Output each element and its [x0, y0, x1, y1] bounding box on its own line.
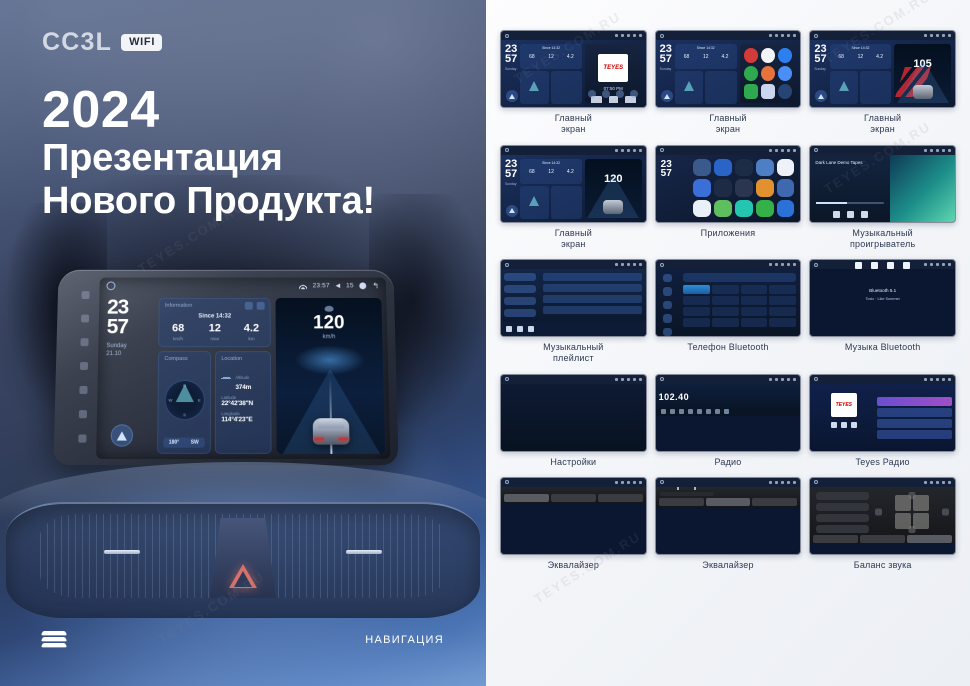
home-icon	[814, 377, 818, 381]
app-icon-radio	[777, 200, 795, 218]
hud-icon	[324, 306, 333, 312]
home-icon	[660, 480, 664, 484]
gallery-item[interactable]: Bluetooth 5.1 Toxic · Like Summer Музыка…	[809, 259, 956, 365]
altitude-label: Altitude	[235, 375, 249, 380]
gallery-item[interactable]: Настройки	[500, 374, 647, 468]
station-list[interactable]	[877, 387, 952, 448]
bluetooth-version: Bluetooth 5.1	[822, 288, 943, 293]
hw-key-home-icon[interactable]	[80, 362, 88, 370]
headline-year: 2024	[42, 84, 375, 137]
home-icon	[660, 377, 664, 381]
location-longitude-row: Longitude 114°4'23"E	[221, 411, 265, 423]
compass-card	[675, 71, 703, 104]
hw-key-next-icon[interactable]	[78, 434, 86, 442]
hazard-button[interactable]	[210, 518, 276, 598]
gallery-grid: 23 57 Sunday Since 14:32 68 12	[500, 30, 956, 571]
home-icon	[814, 263, 818, 267]
hw-key-prev-icon[interactable]	[79, 410, 87, 418]
navigation-arrow-icon	[661, 90, 673, 102]
status-bar: 23:57 ◀ 15 ↰	[99, 278, 386, 295]
home-left-column: 23 57 Sunday 21.10 Information	[101, 298, 271, 454]
product-logo: CC3L WIFI	[42, 30, 162, 55]
app-icon-bt-music	[735, 159, 753, 177]
assistant-icon[interactable]	[360, 282, 367, 289]
home-icon	[505, 34, 509, 38]
thumbnail-sound-balance[interactable]	[809, 477, 956, 555]
page-title: 2024 Презентация Нового Продукта!	[42, 84, 375, 222]
information-since: Since 14:32	[522, 161, 580, 165]
thumbnail-equalizer-fader[interactable]	[655, 477, 802, 555]
gallery-item[interactable]: 23 57 Sunday Since 14:32 68 12	[655, 30, 802, 136]
stop-icon	[887, 262, 894, 269]
car-dashboard-illustration: 23:57 ◀ 15 ↰ 23 57 Sunday 21.10	[0, 230, 486, 686]
vent-chrome-left	[104, 550, 140, 554]
compass-title: Compass	[159, 352, 210, 362]
compass-south: S	[183, 412, 186, 417]
clock-date: 21.10	[106, 350, 153, 358]
clock-weekday: Sunday	[660, 67, 672, 72]
next-icon	[903, 262, 910, 269]
thumbnail-teyes-radio[interactable]: TEYES	[809, 374, 956, 452]
home-icon	[814, 148, 818, 152]
phone-nav[interactable]	[656, 269, 679, 336]
stat-distance-value: 4.2	[561, 169, 580, 175]
seek-bar[interactable]	[816, 202, 884, 204]
balance-right-icon	[942, 509, 949, 516]
next-icon	[861, 211, 868, 218]
home-icon	[814, 480, 818, 484]
clock-minutes: 57	[814, 54, 826, 64]
play-pause-icon	[871, 262, 878, 269]
information-card[interactable]: Information Since 14:32 68	[159, 298, 271, 347]
compass-card[interactable]: Compass N S W E	[157, 351, 211, 454]
drive-speed-unit: km/h	[323, 334, 336, 340]
prev-icon	[506, 326, 512, 332]
app-icon-bluetooth	[714, 159, 732, 177]
now-playing-bar[interactable]	[501, 322, 646, 336]
app-icon-music	[761, 66, 775, 81]
status-volume: 15	[346, 282, 354, 289]
gallery-caption: Teyes Радио	[856, 457, 910, 468]
compass-card	[520, 71, 548, 104]
key-call	[769, 307, 796, 316]
stat-distance-value: 4.2	[233, 323, 270, 334]
bt-track-title: Toxic · Like Summer	[822, 297, 943, 301]
longitude-value: 114°4'23"E	[221, 416, 265, 423]
location-card	[705, 71, 736, 104]
stat-max-value: 12	[196, 323, 233, 334]
stat-distance-value: 4.2	[870, 54, 889, 60]
headline-line-2: Нового Продукта!	[42, 180, 375, 223]
gallery-item[interactable]: Эквалайзер	[500, 477, 647, 571]
gallery-caption: Музыка Bluetooth	[845, 342, 921, 353]
phone-number-field[interactable]	[683, 273, 797, 282]
thumbnail-home-drive[interactable]: 23 57 Sunday Since 14:32 68 12	[809, 30, 956, 108]
information-settings-icon[interactable]	[245, 302, 253, 310]
clock-weekday: Sunday	[814, 67, 826, 72]
app-icon-maps	[714, 200, 732, 218]
home-icon[interactable]	[106, 281, 115, 290]
compass-east: E	[198, 397, 201, 402]
stat-max-value: 12	[851, 54, 870, 60]
app-icon-play-store	[756, 200, 774, 218]
gallery-caption: Эквалайзер	[548, 560, 599, 571]
app-icon-chrome	[693, 179, 711, 197]
altitude-value: 374m	[235, 384, 251, 391]
stat-distance: 4.2 km	[233, 323, 270, 341]
home-icon	[505, 377, 509, 381]
thumbnail-settings[interactable]	[500, 374, 647, 452]
information-reset-icon[interactable]	[257, 302, 265, 310]
stat-distance-value: 4.2	[715, 54, 734, 60]
navigation-arrow-icon[interactable]	[111, 424, 134, 446]
balance-pad[interactable]	[875, 492, 949, 533]
head-unit-bezel: 23:57 ◀ 15 ↰ 23 57 Sunday 21.10	[53, 270, 398, 465]
gallery-caption: Эквалайзер	[702, 560, 753, 571]
app-icon-dvr	[735, 179, 753, 197]
navigation-arrow-icon	[506, 205, 518, 217]
home-icon	[505, 263, 509, 267]
key-hangup	[769, 318, 796, 327]
drive-view-widget[interactable]: 120 km/h	[275, 298, 385, 454]
clock-hours: 23	[107, 298, 154, 318]
headline-line-1: Презентация	[42, 137, 375, 180]
information-since: Since 14:32	[677, 46, 735, 50]
wifi-badge: WIFI	[121, 34, 162, 51]
key-6	[741, 296, 768, 305]
next-icon	[851, 422, 857, 428]
information-since: Since 14:32	[160, 314, 270, 320]
drive-view-widget: 105	[894, 44, 951, 103]
clock-minutes: 57	[660, 54, 672, 64]
thumbnail-app-grid[interactable]: 23 57	[655, 145, 802, 223]
hero-footer: НАВИГАЦИЯ	[0, 630, 486, 650]
gallery-caption: Главный экран	[709, 113, 746, 136]
navigation-arrow-icon	[506, 90, 518, 102]
compass-card	[830, 71, 858, 104]
app-icon-grid	[687, 155, 800, 222]
hw-key-back-icon[interactable]	[79, 386, 87, 394]
gallery-item[interactable]: 23 57	[655, 145, 802, 251]
key-1	[683, 285, 710, 294]
widget-row-2: Compass N S W E	[157, 351, 271, 454]
balance-presets[interactable]	[816, 492, 869, 533]
gallery-caption: Музыкальный проигрыватель	[850, 228, 915, 251]
key-3	[741, 285, 768, 294]
stat-distance-value: 4.2	[561, 54, 580, 60]
compass-dial: N S W E	[164, 379, 204, 419]
head-unit-screen[interactable]: 23:57 ◀ 15 ↰ 23 57 Sunday 21.10	[96, 278, 390, 459]
key-2	[712, 285, 739, 294]
volume-icon[interactable]: ◀	[336, 282, 341, 289]
stat-max-value: 12	[541, 54, 560, 60]
home-icon	[505, 148, 509, 152]
stat-max-value: 12	[696, 54, 715, 60]
location-altitude-row: Altitude 374m	[221, 366, 265, 391]
gallery-caption: Приложения	[701, 228, 756, 239]
gallery-caption: Настройки	[550, 457, 596, 468]
gallery-caption: Главный экран	[555, 228, 592, 251]
back-arrow-icon[interactable]: ↰	[372, 282, 379, 290]
track-title: Dark Lane Demo Tapes	[815, 160, 885, 165]
stat-max: 12 max	[196, 323, 233, 341]
car-3d-model	[310, 410, 351, 445]
key-0	[712, 318, 739, 327]
gallery-item[interactable]: 23 57 Sunday Since 14:32 68 12	[500, 30, 647, 136]
stat-avg-speed-unit: km/h	[160, 336, 197, 341]
key-5	[712, 296, 739, 305]
information-since: Since 14:32	[832, 46, 890, 50]
pause-icon	[847, 211, 854, 218]
compass-north: N	[183, 382, 186, 387]
prev-icon	[831, 422, 837, 428]
thumbnail-radio[interactable]: 102.40	[655, 374, 802, 452]
screenshot-gallery: 23 57 Sunday Since 14:32 68 12	[486, 0, 970, 686]
app-icon-phone	[744, 66, 758, 81]
screen-body: 23 57 Sunday 21.10 Information	[96, 294, 390, 459]
home-icon	[660, 34, 664, 38]
stat-avg-speed-value: 68	[522, 54, 541, 60]
app-icon-youtube	[744, 48, 758, 63]
transport-controls[interactable]	[813, 422, 874, 428]
stat-avg-speed: 68 km/h	[160, 323, 197, 341]
thumbnail-playlist[interactable]	[500, 259, 647, 337]
thumbnail-equalizer-bands[interactable]	[500, 477, 647, 555]
clock-weekday: Sunday	[505, 182, 517, 187]
gallery-caption: Главный экран	[864, 113, 901, 136]
latitude-value: 22°42'38"N	[221, 400, 265, 407]
dial-pad[interactable]	[683, 285, 797, 327]
location-latitude-row: Latitude 22°42'38"N	[221, 395, 265, 407]
audio-tabs[interactable]	[501, 493, 646, 503]
media-widget: TEYES 07:50 PM	[585, 44, 642, 103]
settings-tiles[interactable]	[520, 388, 526, 436]
stat-avg-speed-value: 68	[832, 54, 851, 60]
thumbnail-home-speed[interactable]: 23 57 Sunday Since 14:32 68 12	[500, 145, 647, 223]
gallery-caption: Радио	[714, 457, 741, 468]
transport-controls[interactable]	[822, 262, 943, 269]
vent-chrome-right	[346, 550, 382, 554]
thumbnail-home-apps[interactable]: 23 57 Sunday Since 14:32 68 12	[655, 30, 802, 108]
album-art: TEYES	[598, 54, 628, 82]
presentation-slide: CC3L WIFI 2024 Презентация Нового Продук…	[0, 0, 970, 686]
gallery-item[interactable]: Телефон Bluetooth	[655, 259, 802, 365]
key-4	[683, 296, 710, 305]
thumbnail-home-media[interactable]: 23 57 Sunday Since 14:32 68 12	[500, 30, 647, 108]
app-icon-google	[693, 200, 711, 218]
visualizer	[890, 155, 955, 222]
app-icon-clock	[714, 179, 732, 197]
stop-icon	[841, 422, 847, 428]
layers-icon[interactable]	[42, 630, 66, 650]
compass-values: 180° SW	[164, 438, 205, 448]
compass-direction: SW	[184, 440, 205, 446]
location-card	[551, 71, 582, 104]
album-art: TEYES	[831, 393, 857, 417]
thumbnail-bluetooth-music[interactable]: Bluetooth 5.1 Toxic · Like Summer	[809, 259, 956, 337]
key-7	[683, 307, 710, 316]
gallery-item[interactable]: 23 57 Sunday Since 14:32 68 12	[500, 145, 647, 251]
hero-panel: CC3L WIFI 2024 Презентация Нового Продук…	[0, 0, 486, 686]
stat-avg-speed-value: 68	[522, 169, 541, 175]
gallery-caption: Главный экран	[555, 113, 592, 136]
gallery-item[interactable]: Эквалайзер	[655, 477, 802, 571]
app-icon-calculator	[756, 159, 774, 177]
wifi-icon[interactable]	[299, 283, 307, 289]
clock-weekday: Sunday	[505, 67, 517, 72]
gallery-caption: Телефон Bluetooth	[687, 342, 768, 353]
location-title: Location	[221, 352, 265, 362]
hazard-triangle-inner	[234, 571, 252, 587]
next-icon	[528, 326, 534, 332]
gallery-caption: Музыкальный плейлист	[543, 342, 603, 365]
information-since: Since 14:32	[522, 46, 580, 50]
information-actions[interactable]	[245, 302, 265, 310]
gallery-item[interactable]: 23 57 Sunday Since 14:32 68 12	[809, 30, 956, 136]
location-card[interactable]: Location Altitude 374m	[215, 351, 271, 454]
hw-key-power-icon[interactable]	[80, 338, 88, 346]
brand-name: CC3L	[42, 30, 112, 55]
status-clock: 23:57	[313, 282, 330, 289]
gallery-item[interactable]: Музыкальный плейлист	[500, 259, 647, 365]
clock-widget[interactable]: 23 57 Sunday 21.10	[101, 298, 154, 454]
widget-column: Information Since 14:32 68	[157, 298, 271, 454]
gallery-item[interactable]: Dark Lane Demo Tapes Музыкальный проигры…	[809, 145, 956, 251]
compass-card	[520, 186, 548, 219]
location-card	[551, 186, 582, 219]
app-shortcuts-widget	[740, 44, 797, 103]
app-icon-all-apps	[761, 84, 775, 99]
app-icon-filemanager	[756, 179, 774, 197]
clock-minutes: 57	[107, 317, 154, 337]
stat-avg-speed-value: 68	[160, 323, 197, 334]
app-icon-music-player	[735, 200, 753, 218]
key-hash	[741, 318, 768, 327]
hw-key-volume-down-icon[interactable]	[82, 291, 90, 299]
stat-distance-unit: km	[233, 336, 270, 341]
prev-icon	[833, 211, 840, 218]
drive-speed-value: 120	[313, 314, 345, 333]
clock-minutes: 57	[505, 169, 517, 179]
home-icon	[660, 263, 664, 267]
app-icon-mail	[778, 66, 792, 81]
hardware-key-strip[interactable]	[72, 283, 96, 450]
preset-pads[interactable]	[718, 492, 796, 496]
stat-max-value: 12	[541, 169, 560, 175]
balance-left-icon	[875, 509, 882, 516]
fader-sliders[interactable]	[660, 492, 715, 496]
home-icon	[660, 148, 664, 152]
stat-avg-speed-value: 68	[677, 54, 696, 60]
clock-minutes: 57	[505, 54, 517, 64]
app-icon-maps	[778, 48, 792, 63]
hw-key-volume-up-icon[interactable]	[81, 315, 89, 323]
home-icon	[814, 34, 818, 38]
pause-icon	[517, 326, 523, 332]
gallery-caption: Баланс звука	[854, 560, 912, 571]
key-star	[769, 285, 796, 294]
app-icon-aux	[693, 159, 711, 177]
compass-heading: 180°	[164, 440, 185, 446]
gallery-item[interactable]: TEYES Teyes Радио	[809, 374, 956, 468]
mountain-icon	[221, 374, 231, 382]
footer-nav-label: НАВИГАЦИЯ	[365, 634, 444, 646]
settings-tabs[interactable]	[505, 388, 520, 443]
compass-west: W	[169, 397, 173, 402]
stat-max-unit: max	[196, 336, 233, 341]
location-card	[860, 71, 891, 104]
key-8	[712, 307, 739, 316]
clock-minutes: 57	[661, 169, 688, 178]
app-icon-play	[744, 84, 758, 99]
radio-dock[interactable]	[656, 407, 801, 416]
home-icon	[505, 480, 509, 484]
key-asterisk	[683, 318, 710, 327]
app-icon-more	[778, 84, 792, 99]
air-vent-band	[6, 502, 480, 618]
key-backspace	[769, 296, 796, 305]
key-9	[741, 307, 768, 316]
drive-view-widget: 120	[585, 159, 642, 218]
transport-controls[interactable]	[810, 211, 890, 218]
app-icon-browser	[761, 48, 775, 63]
gallery-item[interactable]: 102.40 Радио	[655, 374, 802, 468]
information-stats: 68 km/h 12 max 4.2	[160, 323, 270, 341]
thumbnail-music-player[interactable]: Dark Lane Demo Tapes	[809, 145, 956, 223]
app-icon-gallery	[777, 179, 795, 197]
prev-icon	[855, 262, 862, 269]
thumbnail-bluetooth-phone[interactable]	[655, 259, 802, 337]
gallery-item[interactable]: Баланс звука	[809, 477, 956, 571]
clock-weekday: Sunday	[106, 342, 153, 350]
app-icon-camera	[777, 159, 795, 177]
